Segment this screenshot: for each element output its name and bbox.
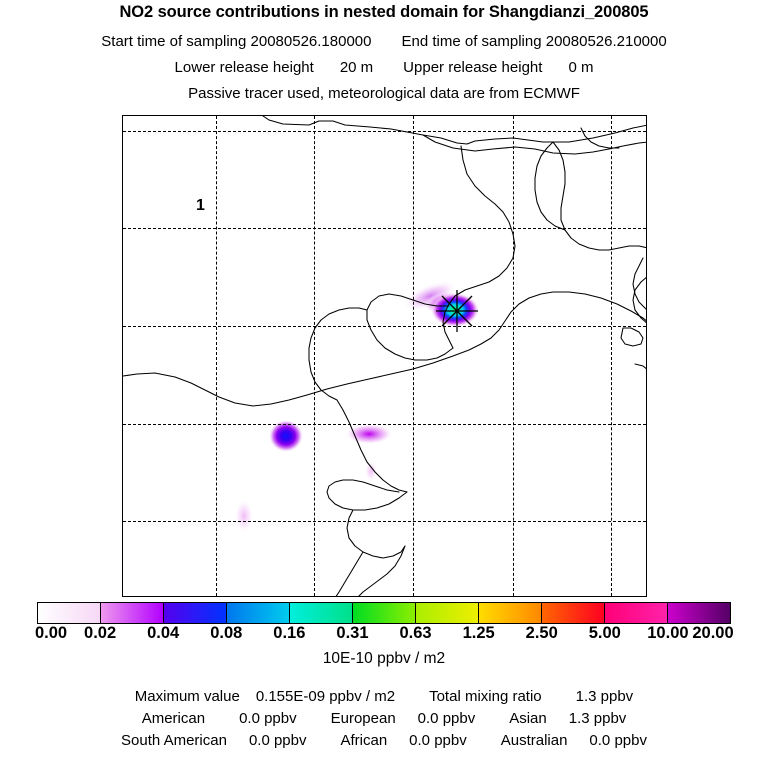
interior-boundary [123,292,647,406]
region-label-african: African [340,732,387,749]
colorbar-tick-9: 5.00 [589,624,621,643]
end-time-value: 20080526.210000 [546,33,667,50]
total-ratio-value: 1.3 ppbv [576,688,634,705]
colorbar-segment-6 [416,603,479,623]
colorbar-tick-10: 10.00 [647,624,688,643]
sampling-time-line: Start time of sampling 20080526.180000En… [0,33,768,50]
end-time-label: End time of sampling [401,33,541,50]
gridline-v-4 [513,116,514,596]
page-title: NO2 source contributions in nested domai… [0,3,768,22]
release-point-star-icon [434,288,480,334]
colorbar-unit-label: 10E-10 ppbv / m2 [0,650,768,668]
region-label-asian: Asian [509,710,547,727]
colorbar-tick-7: 1.25 [463,624,495,643]
colorbar-segment-4 [290,603,353,623]
upper-height-value: 0 m [568,59,593,76]
island-small [635,364,647,370]
stats-row-summary: Maximum value0.155E-09 ppbv / m2Total mi… [0,686,768,708]
statistics-block: Maximum value0.155E-09 ppbv / m2Total mi… [0,686,768,752]
colorbar-tick-2: 0.04 [147,624,179,643]
start-time-label: Start time of sampling [101,33,246,50]
colorbar-segment-9 [605,603,668,623]
region-value-south-american: 0.0 ppbv [249,732,307,749]
colorbar-segment-7 [479,603,542,623]
gridline-v-1 [216,116,217,596]
colorbar-segment-10 [668,603,730,623]
colorbar-segment-0 [38,603,101,623]
yangtze-mouth [327,480,407,510]
korean-peninsula [553,142,647,250]
max-value-label: Maximum value [135,688,240,705]
colorbar-segment-5 [353,603,416,623]
stats-row-2: South American0.0 ppbvAfrican0.0 ppbvAus… [0,730,768,752]
gridline-h-5 [123,521,646,522]
stats-row-1: American0.0 ppbvEuropean0.0 ppbvAsian1.3… [0,708,768,730]
lower-height-label: Lower release height [175,59,314,76]
gridline-v-5 [611,116,612,596]
gridline-v-2 [314,116,315,596]
colorbar-tick-3: 0.08 [210,624,242,643]
colorbar [37,602,731,624]
coastline-outlines [123,116,647,597]
tracer-note: Passive tracer used, meteorological data… [0,85,768,102]
southeast-coast [335,552,363,597]
region-label-south-american: South American [121,732,227,749]
colorbar-tick-4: 0.16 [273,624,305,643]
map-plot-area: 1 [122,115,647,597]
region-label-american: American [142,710,205,727]
lower-height-value: 20 m [340,59,373,76]
japan-coast [633,258,647,311]
colorbar-tick-labels: 0.000.020.040.080.160.310.631.252.505.00… [0,624,768,644]
colorbar-tick-11: 20.00 [692,624,733,643]
colorbar-segment-3 [227,603,290,623]
total-ratio-label: Total mixing ratio [429,688,542,705]
colorbar-tick-5: 0.31 [336,624,368,643]
region-value-australian: 0.0 ppbv [589,732,647,749]
hangzhou-bay [347,510,405,558]
colorbar-segment-2 [164,603,227,623]
region-value-american: 0.0 ppbv [239,710,297,727]
northern-detail [423,135,647,154]
colorbar-segment-8 [542,603,605,623]
region-label-european: European [331,710,396,727]
region-value-asian: 1.3 ppbv [569,710,627,727]
colorbar-tick-1: 0.02 [84,624,116,643]
gridline-h-1 [123,131,646,132]
upper-height-label: Upper release height [403,59,542,76]
gridline-h-4 [123,424,646,425]
max-value-value: 0.155E-09 ppbv / m2 [256,688,395,705]
colorbar-segment-1 [101,603,164,623]
east-china-coast [337,400,407,492]
start-time-value: 20080526.180000 [251,33,372,50]
region-value-european: 0.0 ppbv [418,710,476,727]
japan-coast-2 [633,276,647,324]
release-height-line: Lower release height20 mUpper release he… [0,59,768,76]
gridline-h-2 [123,228,646,229]
gridline-v-3 [413,116,414,596]
colorbar-tick-0: 0.00 [35,624,67,643]
region-label-australian: Australian [501,732,568,749]
island-ryukyu [621,328,643,346]
region-value-african: 0.0 ppbv [409,732,467,749]
colorbar-tick-8: 2.50 [526,624,558,643]
colorbar-tick-6: 0.63 [399,624,431,643]
domain-number-label: 1 [196,197,205,215]
gridline-h-3 [123,326,646,327]
